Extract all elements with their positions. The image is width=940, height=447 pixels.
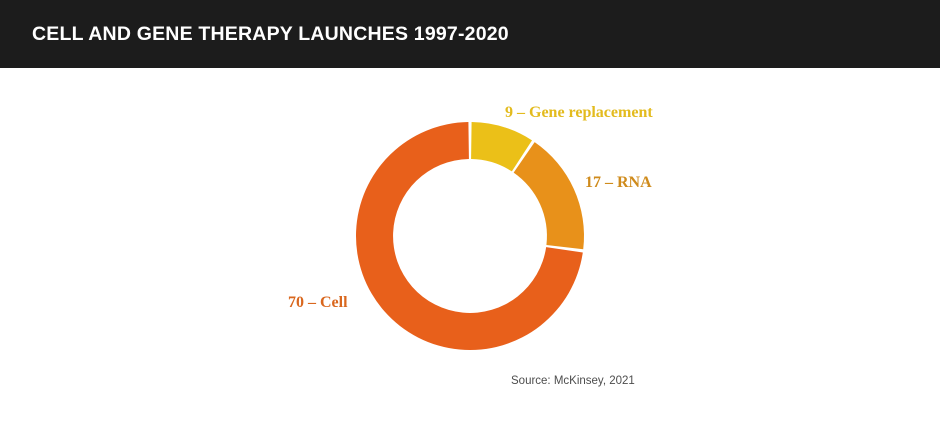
slice-label-cell: 70 – Cell xyxy=(288,294,348,312)
donut-slice-group xyxy=(356,122,584,350)
source-attribution: Source: McKinsey, 2021 xyxy=(511,375,635,387)
slice-label-gene-replacement: 9 – Gene replacement xyxy=(505,104,653,122)
header-bar: CELL AND GENE THERAPY LAUNCHES 1997-2020 xyxy=(0,0,940,68)
donut-slice-rna xyxy=(514,142,584,249)
slice-label-rna: 17 – RNA xyxy=(585,174,652,192)
chart-area: 9 – Gene replacement 17 – RNA 70 – Cell … xyxy=(0,68,940,447)
page-title: CELL AND GENE THERAPY LAUNCHES 1997-2020 xyxy=(32,23,509,46)
chart-page: CELL AND GENE THERAPY LAUNCHES 1997-2020… xyxy=(0,0,940,447)
donut-chart xyxy=(0,68,940,447)
